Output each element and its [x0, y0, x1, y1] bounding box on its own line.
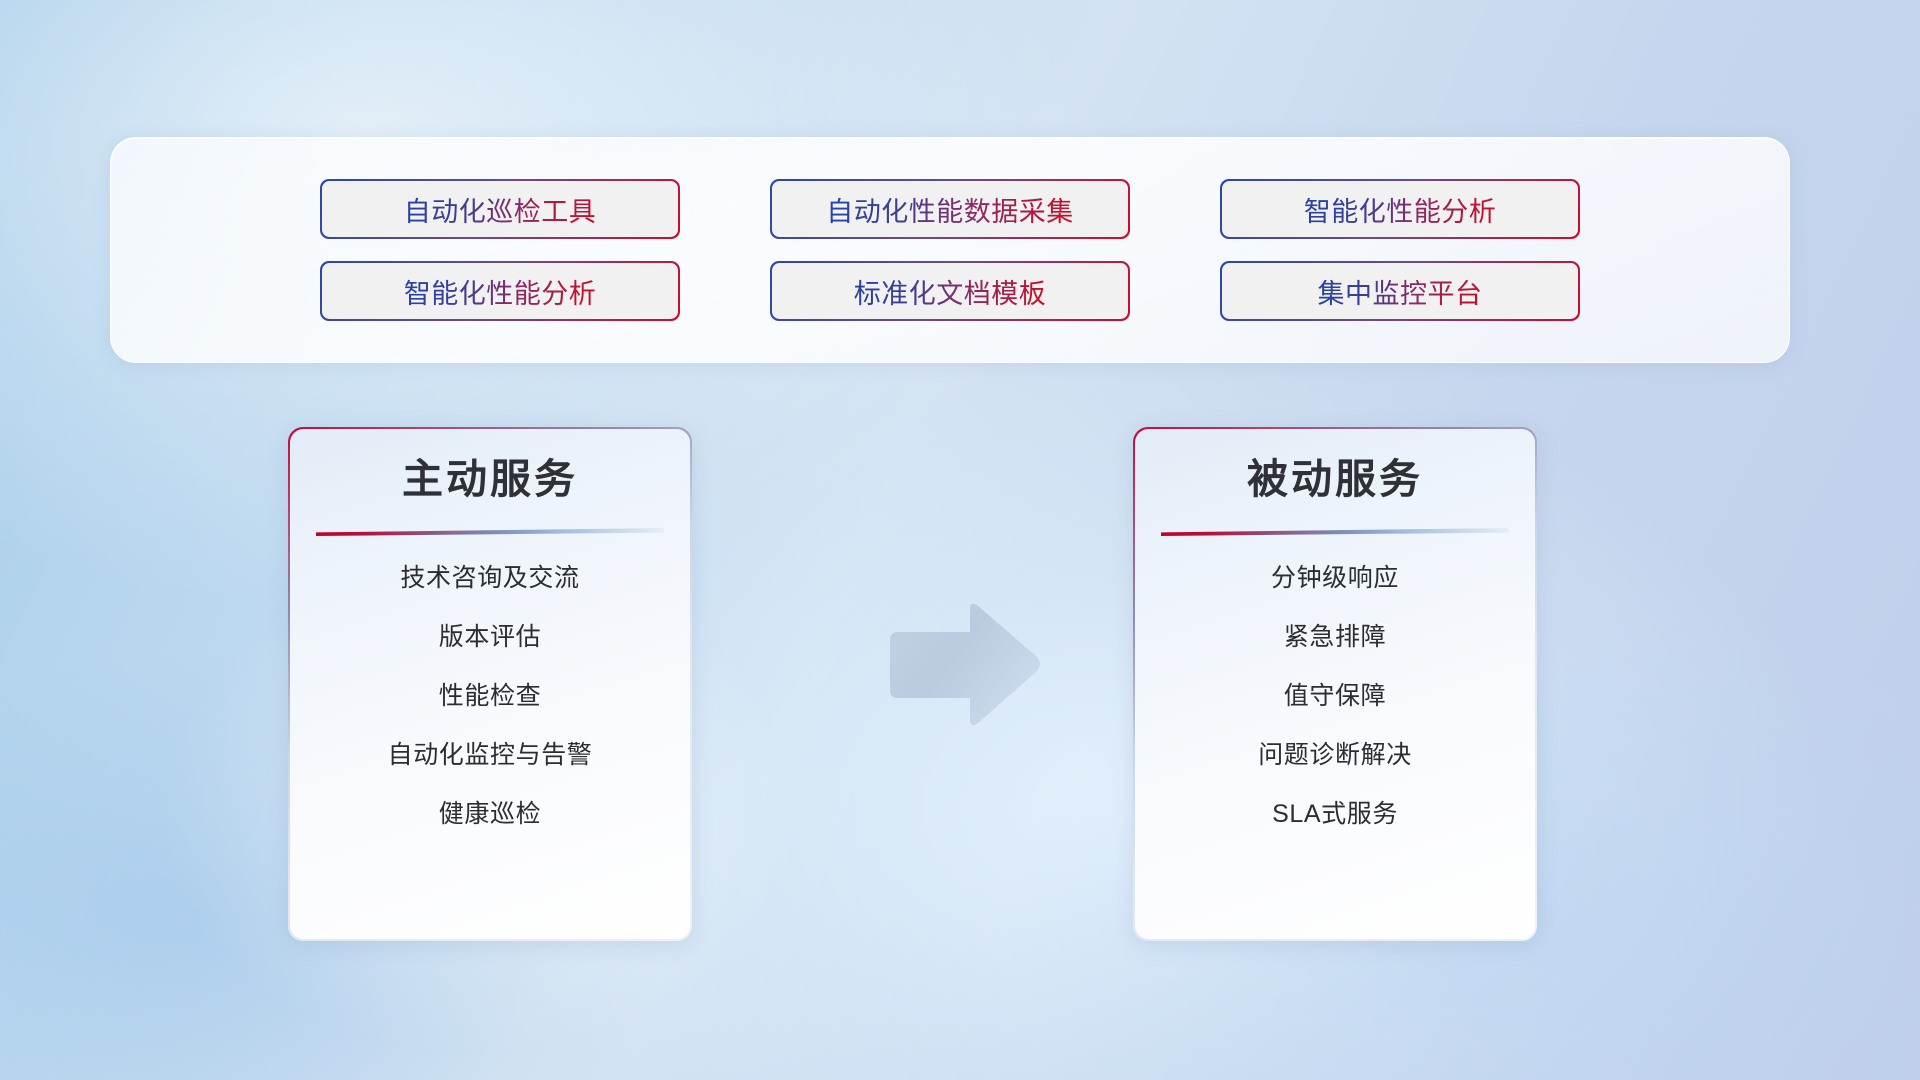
- service-card-surface: 主动服务 技术咨询及交流 版本评估 性能检查: [290, 429, 691, 940]
- capability-tag-surface: 标准化文档模板: [772, 263, 1129, 320]
- service-item-list: 分钟级响应 紧急排障 值守保障 问题诊断解决 SLA式服务: [1161, 566, 1510, 827]
- service-item: SLA式服务: [1272, 802, 1398, 827]
- capability-tag-surface: 自动化性能数据采集: [772, 181, 1129, 238]
- capability-tag-label: 智能化性能分析: [404, 272, 597, 311]
- capability-tag-label: 集中监控平台: [1318, 272, 1483, 311]
- title-divider: [1161, 528, 1509, 536]
- capability-tag[interactable]: 自动化巡检工具: [320, 179, 680, 239]
- capability-tag[interactable]: 标准化文档模板: [770, 261, 1130, 321]
- service-item: 问题诊断解决: [1258, 743, 1412, 768]
- capability-tag-label: 标准化文档模板: [854, 272, 1047, 311]
- capability-tag-surface: 智能化性能分析: [322, 263, 679, 320]
- capability-tag-surface: 智能化性能分析: [1222, 181, 1579, 238]
- capabilities-panel: 自动化巡检工具 自动化性能数据采集 智能化性能分析 智能化性能分析 标准化文档模…: [110, 137, 1790, 363]
- capability-tag-surface: 集中监控平台: [1222, 263, 1579, 320]
- service-card-reactive[interactable]: 被动服务 分钟级响应 紧急排障 值守保障: [1133, 427, 1537, 941]
- capability-tag-grid: 自动化巡检工具 自动化性能数据采集 智能化性能分析 智能化性能分析 标准化文档模…: [320, 179, 1580, 321]
- service-card-title: 被动服务: [1247, 459, 1423, 500]
- service-item: 版本评估: [439, 625, 541, 650]
- service-item-list: 技术咨询及交流 版本评估 性能检查 自动化监控与告警 健康巡检: [316, 566, 665, 827]
- service-card-proactive[interactable]: 主动服务 技术咨询及交流 版本评估 性能检查: [288, 427, 692, 941]
- service-item: 技术咨询及交流: [400, 566, 579, 591]
- service-item: 值守保障: [1284, 684, 1386, 709]
- service-item: 自动化监控与告警: [388, 743, 593, 768]
- service-item: 分钟级响应: [1271, 566, 1399, 591]
- service-card-title: 主动服务: [402, 459, 578, 500]
- capability-tag-surface: 自动化巡检工具: [322, 181, 679, 238]
- title-divider: [316, 528, 664, 536]
- capability-tag[interactable]: 智能化性能分析: [1220, 179, 1580, 239]
- capability-tag[interactable]: 集中监控平台: [1220, 261, 1580, 321]
- capability-tag-label: 智能化性能分析: [1304, 190, 1497, 229]
- capability-tag-label: 自动化巡检工具: [404, 190, 597, 229]
- capability-tag[interactable]: 智能化性能分析: [320, 261, 680, 321]
- service-card-surface: 被动服务 分钟级响应 紧急排障 值守保障: [1135, 429, 1536, 940]
- right-arrow-icon: [884, 598, 1044, 732]
- capability-tag-label: 自动化性能数据采集: [826, 190, 1074, 229]
- service-item: 性能检查: [439, 684, 541, 709]
- service-item: 健康巡检: [439, 802, 541, 827]
- service-item: 紧急排障: [1284, 625, 1386, 650]
- capability-tag[interactable]: 自动化性能数据采集: [770, 179, 1130, 239]
